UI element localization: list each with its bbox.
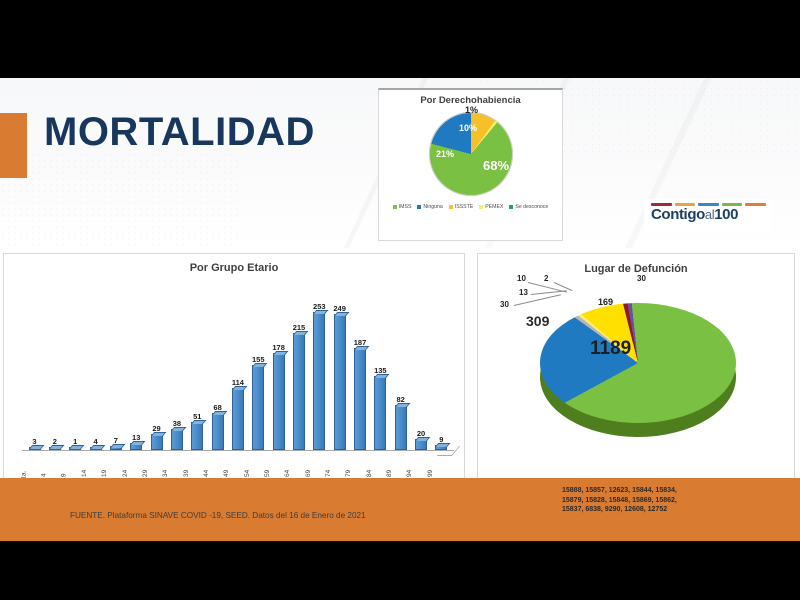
bar-column: 215 (290, 294, 307, 450)
legend-item-ninguna: Ninguna (417, 204, 442, 210)
legend-swatch-se-desconoce (509, 205, 513, 209)
bar (293, 333, 305, 450)
pie3d-top (540, 303, 736, 423)
logo-brand-main: Contigo (651, 206, 705, 223)
bar-column: 51 (189, 294, 206, 450)
legend-label-ninguna: Ninguna (423, 204, 442, 210)
logo-brand-num: 100 (714, 206, 738, 223)
pie-label-hgc: 13 (519, 288, 528, 297)
bar-column: 187 (352, 294, 369, 450)
pie-label-chmh: 309 (526, 313, 549, 329)
legend-item-imss: IMSS (393, 204, 412, 210)
pie-label-ninguna: 21% (436, 149, 454, 159)
bar-column: 68 (209, 294, 226, 450)
pie-label-issste: 10% (459, 123, 477, 133)
phone-number-line: 15879, 15828, 15848, 15869, 15862, (562, 496, 677, 506)
bar-column: 155 (250, 294, 267, 450)
bar (273, 353, 285, 450)
bar-column: 1 (67, 294, 84, 450)
legend-item-pemex: PEMEX (479, 204, 503, 210)
bar (191, 422, 203, 450)
letterbox-bottom (0, 541, 800, 600)
bar-column: 13 (128, 294, 145, 450)
bar-column: 249 (331, 294, 348, 450)
bar-column: 7 (107, 294, 124, 450)
header-dot-texture (0, 152, 240, 248)
bar (313, 312, 325, 450)
pie-label-domicilio: 2 (544, 274, 548, 283)
logo-dash-5 (745, 203, 766, 206)
pie-label-hgrr: 30 (637, 274, 646, 283)
bar-column: 20 (413, 294, 430, 450)
letterbox-top (0, 0, 800, 78)
bar (354, 348, 366, 450)
bar-column: 178 (270, 294, 287, 450)
bar (212, 413, 224, 450)
pie-lugar-defuncion: 1189 309 169 30 30 13 10 2 (478, 275, 794, 465)
bar-column: 135 (372, 294, 389, 450)
leader-line-hg-issste (528, 282, 567, 293)
legend-swatch-imss (393, 205, 397, 209)
orange-accent-block (0, 113, 27, 178)
pie-derechohabiencia: 1% 10% 21% 68% (379, 106, 562, 202)
phone-number-line: 15837, 6838, 9290, 12608, 12752 (562, 505, 677, 515)
bar (151, 434, 163, 450)
bar (415, 439, 427, 450)
pie-label-imss: 1189 (590, 338, 631, 360)
pie3d-body (540, 303, 736, 423)
phone-number-line: 15888, 15857, 12623, 15844, 15834, (562, 486, 677, 496)
slide-screen: MORTALIDAD Contigoal100 Por Derechohabie… (0, 0, 800, 600)
bar-column: 4 (87, 294, 104, 450)
bar-column: 9 (433, 294, 450, 450)
bar-column: 3 (26, 294, 43, 450)
contigo-al-100-logo: Contigoal100 (645, 200, 771, 230)
bar-axis-line (22, 450, 454, 451)
bar (334, 314, 346, 450)
bar (171, 429, 183, 450)
legend-label-pemex: PEMEX (485, 204, 503, 210)
bar (395, 405, 407, 450)
bar (232, 388, 244, 450)
bar (252, 365, 264, 450)
legend-label-issste: ISSSTE (455, 204, 473, 210)
bar-column: 2 (46, 294, 63, 450)
presentation-slide: MORTALIDAD Contigoal100 Por Derechohabie… (0, 78, 800, 541)
pie-label-hg-issste: 10 (517, 274, 526, 283)
pie-label-imss: 68% (483, 158, 509, 173)
pie-label-hgpa: 30 (500, 300, 509, 309)
legend-derechohabiencia: IMSS Ninguna ISSSTE PEMEX Se desconoce (379, 204, 562, 210)
phone-number-list: 15888, 15857, 12623, 15844, 15834,15879,… (562, 486, 677, 515)
page-title: MORTALIDAD (44, 112, 315, 152)
chart-title-grupo-etario: Por Grupo Etario (4, 262, 464, 274)
logo-brand-mid: al (705, 207, 714, 222)
bar-column: 29 (148, 294, 165, 450)
logo-text: Contigoal100 (651, 207, 768, 223)
bar-chart-grupo-etario: 3214713293851681141551782152532491871358… (18, 280, 454, 495)
legend-swatch-issste (449, 205, 453, 209)
bar (130, 443, 142, 450)
bar-series: 3214713293851681141551782152532491871358… (26, 294, 450, 450)
bar-column: 82 (392, 294, 409, 450)
bar (374, 376, 386, 450)
legend-label-imss: IMSS (399, 204, 412, 210)
bar-column: 253 (311, 294, 328, 450)
legend-swatch-ninguna (417, 205, 421, 209)
pie-label-pemex: 1% (465, 105, 478, 115)
legend-label-se-desconoce: Se desconoce (515, 204, 548, 210)
chart-panel-derechohabiencia: Por Derechohabiencia 1% 10% 21% 68% IMSS… (378, 88, 563, 241)
slide-footer: FUENTE. Plataforma SINAVE COVID -19, SEE… (0, 478, 800, 541)
legend-item-se-desconoce: Se desconoce (509, 204, 548, 210)
bar-column: 38 (168, 294, 185, 450)
legend-item-issste: ISSSTE (449, 204, 473, 210)
pie-label-hgtm: 169 (598, 297, 613, 307)
bar-column: 114 (229, 294, 246, 450)
source-note: FUENTE. Plataforma SINAVE COVID -19, SEE… (70, 511, 366, 520)
legend-swatch-pemex (479, 205, 483, 209)
